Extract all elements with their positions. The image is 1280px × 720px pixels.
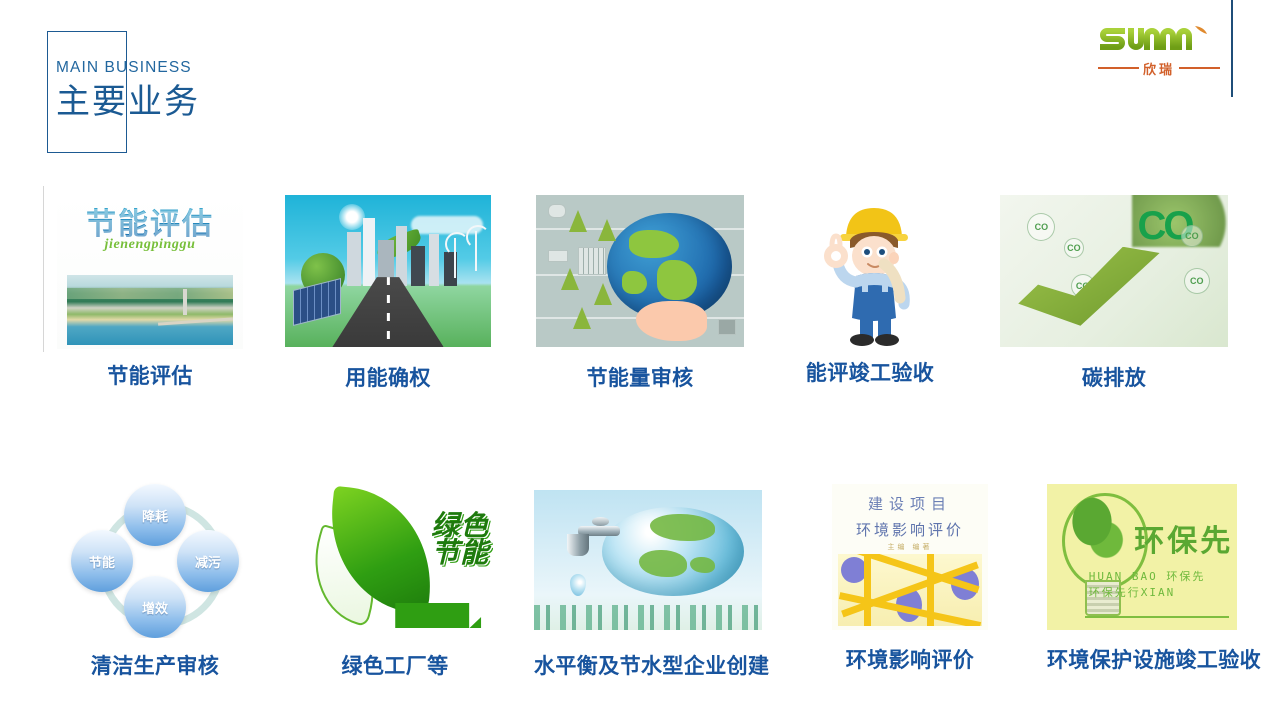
co2-bubble: CO	[1064, 238, 1084, 258]
huanbao-chinese-text: 环保先	[1134, 516, 1233, 560]
business-card-green-factory[interactable]: 绿色 节能 绿色工厂等	[297, 478, 493, 683]
arrow-cursor	[1018, 247, 1159, 326]
building	[429, 234, 439, 286]
business-card-env-facility-acceptance[interactable]: 环保先 HUAN BAO 环保先 环保先行XIAN 环境保护设施竣工验收	[1047, 484, 1237, 683]
card-thumbnail: CO CO CO CO CO CO	[1000, 195, 1228, 347]
co2-bubble: CO	[1027, 213, 1055, 241]
continent	[690, 557, 715, 573]
factory	[548, 250, 568, 262]
sun	[339, 204, 365, 230]
bulb-earth-huanbao-icon: 环保先 HUAN BAO 环保先 环保先行XIAN	[1047, 484, 1237, 630]
worker-ok-gesture-yellow-helmet-icon	[790, 190, 950, 350]
building	[363, 218, 375, 286]
solar-panel	[578, 247, 606, 275]
card-thumbnail: 建设项目 环境影响评价 主编 编著	[832, 484, 988, 630]
card-thumbnail	[536, 195, 744, 347]
leaf-logo-text: 绿色 节能	[431, 513, 489, 566]
pine-tree	[594, 283, 612, 305]
diagram-node-bottom: 增效	[124, 576, 186, 638]
leaf-logo-line2: 节能	[431, 540, 489, 567]
wind-turbine	[454, 238, 456, 278]
business-card-clean-production-audit[interactable]: 降耗 减污 增效 节能 清洁生产审核	[57, 478, 253, 683]
faucet-spout	[567, 534, 589, 556]
poster-energy-saving-assessment-icon: 节能评估 jienengpinggu	[57, 193, 243, 349]
card-label: 绿色工厂等	[297, 656, 493, 677]
business-card-carbon-emission[interactable]: CO CO CO CO CO CO 碳排放	[1000, 195, 1228, 393]
faucet	[561, 521, 652, 569]
book-cover-artwork	[838, 554, 982, 626]
business-card-energy-rights[interactable]: 用能确权	[285, 195, 491, 393]
card-label: 节能评估	[57, 366, 243, 387]
book-cover-eia-icon: 建设项目 环境影响评价 主编 编著	[832, 484, 988, 630]
card-label: 环境影响评价	[832, 650, 988, 671]
photo-tower	[183, 289, 187, 315]
card-label: 能评竣工验收	[790, 363, 950, 384]
book-title-line2: 环境影响评价	[832, 519, 988, 540]
pine-tree	[573, 307, 591, 329]
bulb-world-map	[1066, 496, 1131, 569]
business-card-energy-saving-assessment[interactable]: 节能评估 jienengpinggu 节能评估	[57, 193, 243, 393]
co2-bubble: CO	[1184, 268, 1210, 294]
business-card-energy-saving-audit[interactable]: 节能量审核	[536, 195, 744, 393]
card-thumbnail: 绿色 节能	[297, 478, 493, 638]
faucet-water-globe-skyline-icon	[534, 490, 762, 630]
water-drop	[570, 574, 586, 596]
green-city-road-solar-wind-icon	[285, 195, 491, 347]
card-label: 清洁生产审核	[57, 656, 253, 677]
earth-in-hand-factories-icon	[536, 195, 744, 347]
continent	[629, 230, 679, 258]
diagram-node-left: 节能	[71, 530, 133, 592]
card-thumbnail	[285, 195, 491, 347]
book-author: 主编 编著	[832, 542, 988, 552]
card-thumbnail	[790, 190, 950, 350]
card-thumbnail: 环保先 HUAN BAO 环保先 环保先行XIAN	[1047, 484, 1237, 630]
recycle-arrow	[395, 603, 481, 629]
business-grid: 节能评估 jienengpinggu 节能评估	[0, 0, 1280, 720]
card-label: 碳排放	[1000, 368, 1228, 389]
continent	[622, 271, 647, 294]
card-label: 水平衡及节水型企业创建	[534, 656, 762, 677]
card-label: 节能量审核	[536, 368, 744, 389]
leaf-logo-line1: 绿色	[431, 513, 489, 540]
continent	[650, 514, 715, 541]
poster-photo	[67, 275, 233, 345]
huanbao-rule	[1085, 616, 1229, 618]
card-label: 用能确权	[285, 368, 491, 389]
green-arrow-co2-bubbles-icon: CO CO CO CO CO CO	[1000, 195, 1228, 347]
pine-tree	[598, 219, 616, 241]
city-skyline	[534, 605, 762, 630]
card-thumbnail: 降耗 减污 增效 节能	[57, 478, 253, 638]
four-node-diamond-diagram-icon: 降耗 减污 增效 节能	[57, 478, 253, 638]
pine-tree	[561, 268, 579, 290]
huanbao-pinyin: HUAN BAO 环保先 环保先行XIAN	[1089, 569, 1237, 602]
photo-bridge	[158, 317, 233, 325]
factory	[548, 204, 566, 218]
card-thumbnail	[534, 490, 762, 630]
huanbao-pinyin-line2: 环保先行XIAN	[1089, 585, 1237, 602]
solar-panel	[293, 278, 341, 326]
wind-turbine	[475, 231, 477, 271]
card-label: 环境保护设施竣工验收	[1047, 650, 1237, 671]
building	[411, 246, 425, 286]
building	[718, 319, 736, 335]
pine-tree	[569, 210, 587, 232]
road	[332, 277, 443, 347]
book-title-line1: 建设项目	[832, 493, 988, 514]
card-thumbnail: 节能评估 jienengpinggu	[57, 193, 243, 349]
green-leaf-energy-logo-icon: 绿色 节能	[297, 478, 493, 638]
business-card-energy-acceptance[interactable]: 能评竣工验收	[790, 190, 950, 393]
faucet-knob	[592, 517, 608, 526]
hand	[636, 301, 707, 341]
diagram-node-right: 减污	[177, 530, 239, 592]
building	[347, 232, 361, 286]
huanbao-pinyin-line1: HUAN BAO 环保先	[1089, 569, 1237, 586]
continent	[657, 260, 697, 300]
poster-pinyin-text: jienengpinggu	[57, 237, 243, 253]
business-card-eia[interactable]: 建设项目 环境影响评价 主编 编著 环境影响评价	[832, 484, 988, 683]
cover-bar	[864, 554, 871, 626]
diagram-node-top: 降耗	[124, 484, 186, 546]
business-card-water-balance[interactable]: 水平衡及节水型企业创建	[534, 490, 762, 683]
